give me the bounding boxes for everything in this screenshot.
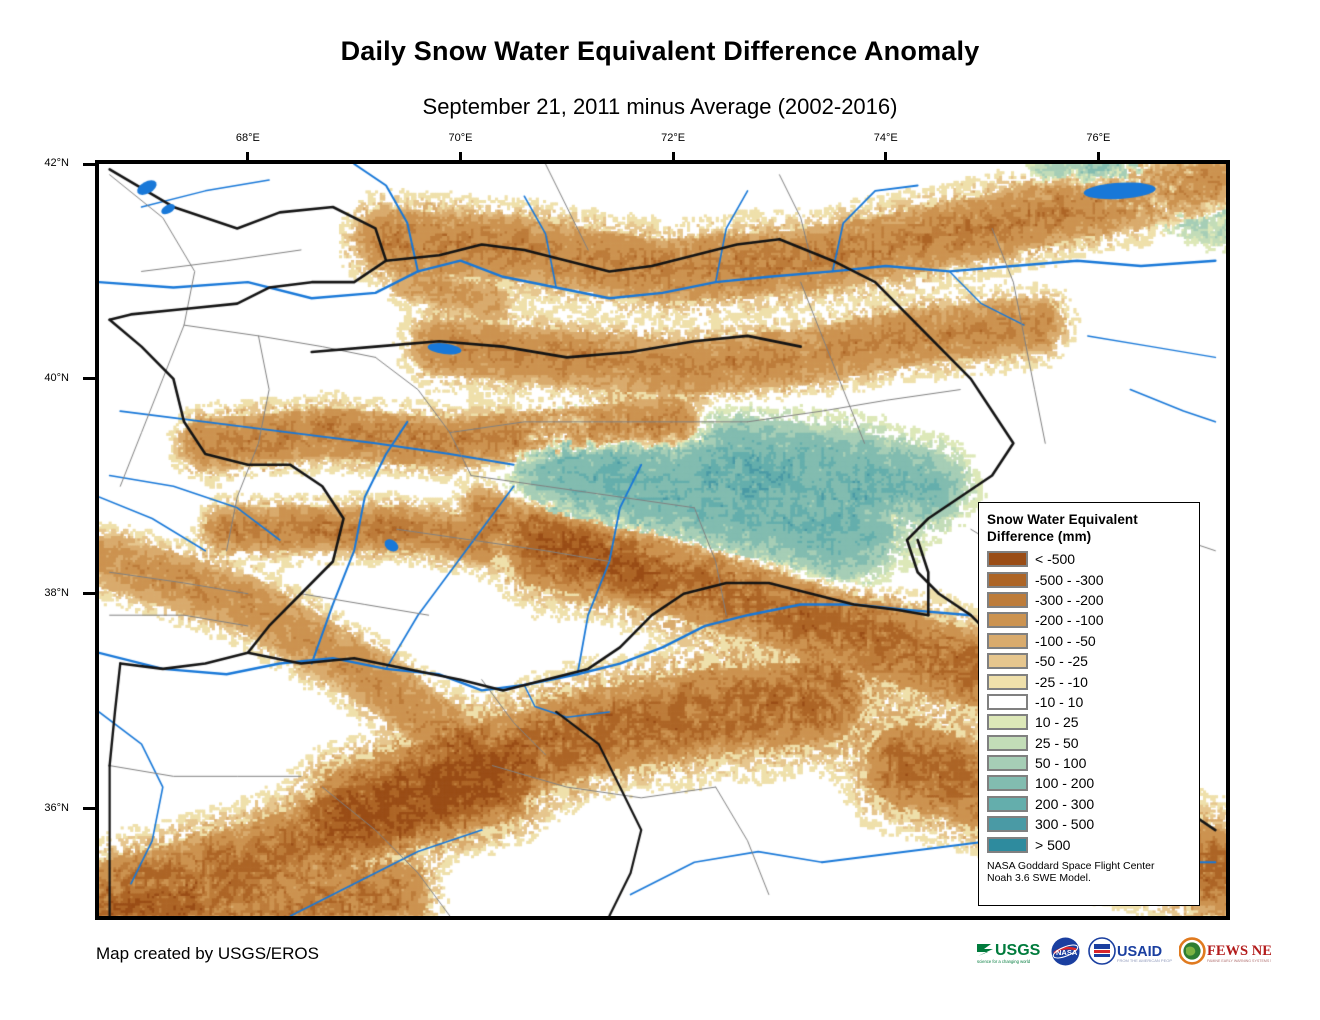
svg-text:FAMINE EARLY WARNING SYSTEMS N: FAMINE EARLY WARNING SYSTEMS NETWORK bbox=[1207, 959, 1271, 963]
legend-entry: -10 - 10 bbox=[987, 692, 1193, 712]
legend-entry: 25 - 50 bbox=[987, 733, 1193, 753]
legend-note-line2: Noah 3.6 SWE Model. bbox=[987, 872, 1193, 885]
legend-entry: 50 - 100 bbox=[987, 753, 1193, 773]
legend-swatch bbox=[987, 612, 1028, 628]
lon-tick-label: 74°E bbox=[856, 133, 916, 144]
lat-tick-mark bbox=[83, 592, 95, 595]
legend-entry-label: 25 - 50 bbox=[1035, 735, 1079, 751]
legend-entry-label: -50 - -25 bbox=[1035, 653, 1088, 669]
legend-entry-label: 50 - 100 bbox=[1035, 755, 1086, 771]
lat-tick-label: 40°N bbox=[23, 372, 69, 384]
legend-entry-label: -300 - -200 bbox=[1035, 592, 1103, 608]
map-credit: Map created by USGS/EROS bbox=[96, 944, 319, 964]
legend-entry: -200 - -100 bbox=[987, 610, 1193, 630]
legend-title-line1: Snow Water Equivalent bbox=[987, 511, 1193, 528]
lat-tick-label: 38°N bbox=[23, 587, 69, 599]
legend-entry: > 500 bbox=[987, 834, 1193, 854]
legend-entry-label: < -500 bbox=[1035, 551, 1075, 567]
legend-note-line1: NASA Goddard Space Flight Center bbox=[987, 860, 1193, 873]
legend-attribution: NASA Goddard Space Flight Center Noah 3.… bbox=[987, 860, 1193, 885]
usaid-logo: USAID FROM THE AMERICAN PEOPLE bbox=[1088, 935, 1172, 967]
legend-swatch bbox=[987, 796, 1028, 812]
legend-swatch bbox=[987, 714, 1028, 730]
legend-swatch bbox=[987, 694, 1028, 710]
svg-text:FEWS NET: FEWS NET bbox=[1207, 943, 1271, 959]
legend-swatch bbox=[987, 816, 1028, 832]
legend-title-line2: Difference (mm) bbox=[987, 528, 1193, 545]
legend-entry: -50 - -25 bbox=[987, 651, 1193, 671]
lat-tick-label: 42°N bbox=[23, 157, 69, 169]
legend-swatch bbox=[987, 775, 1028, 791]
fewsnet-logo: FEWS NET FAMINE EARLY WARNING SYSTEMS NE… bbox=[1179, 935, 1271, 967]
svg-text:FROM THE AMERICAN PEOPLE: FROM THE AMERICAN PEOPLE bbox=[1117, 958, 1172, 963]
legend-swatch bbox=[987, 735, 1028, 751]
legend-swatch bbox=[987, 653, 1028, 669]
legend-swatch bbox=[987, 572, 1028, 588]
page-title: Daily Snow Water Equivalent Difference A… bbox=[0, 36, 1320, 67]
lat-tick-mark bbox=[83, 377, 95, 380]
lat-tick-mark bbox=[83, 807, 95, 810]
lon-tick-label: 70°E bbox=[430, 133, 490, 144]
legend-entry: -300 - -200 bbox=[987, 590, 1193, 610]
svg-text:science for a changing world: science for a changing world bbox=[977, 959, 1031, 964]
svg-text:NASA: NASA bbox=[1056, 948, 1078, 957]
legend-entry-label: 10 - 25 bbox=[1035, 714, 1079, 730]
legend-swatch bbox=[987, 592, 1028, 608]
nasa-logo: NASA bbox=[1050, 935, 1081, 967]
legend-entry-label: 300 - 500 bbox=[1035, 816, 1094, 832]
legend-entry-label: -100 - -50 bbox=[1035, 633, 1096, 649]
lon-tick-label: 72°E bbox=[643, 133, 703, 144]
legend-entry-label: 100 - 200 bbox=[1035, 775, 1094, 791]
legend-entry-label: -200 - -100 bbox=[1035, 612, 1103, 628]
usgs-logo: USGS science for a changing world bbox=[975, 935, 1043, 967]
agency-logo-bar: USGS science for a changing world NASA U… bbox=[975, 934, 1227, 968]
legend-entry: -100 - -50 bbox=[987, 631, 1193, 651]
lat-tick-label: 36°N bbox=[23, 802, 69, 814]
legend-entry-list: < -500-500 - -300-300 - -200-200 - -100-… bbox=[987, 549, 1193, 855]
legend-swatch bbox=[987, 633, 1028, 649]
legend-swatch bbox=[987, 755, 1028, 771]
legend-entry-label: 200 - 300 bbox=[1035, 796, 1094, 812]
legend-entry-label: -10 - 10 bbox=[1035, 694, 1083, 710]
legend-entry-label: -500 - -300 bbox=[1035, 572, 1103, 588]
legend-entry: -500 - -300 bbox=[987, 569, 1193, 589]
lon-tick-label: 68°E bbox=[218, 133, 278, 144]
legend-entry: 200 - 300 bbox=[987, 794, 1193, 814]
legend-title: Snow Water Equivalent Difference (mm) bbox=[987, 511, 1193, 545]
page-subtitle: September 21, 2011 minus Average (2002-2… bbox=[0, 94, 1320, 120]
legend-entry: < -500 bbox=[987, 549, 1193, 569]
lon-tick-label: 76°E bbox=[1068, 133, 1128, 144]
legend-entry: 100 - 200 bbox=[987, 773, 1193, 793]
lat-tick-mark bbox=[83, 163, 95, 166]
legend-swatch bbox=[987, 837, 1028, 853]
legend-entry: 300 - 500 bbox=[987, 814, 1193, 834]
legend-panel: Snow Water Equivalent Difference (mm) < … bbox=[978, 502, 1200, 906]
svg-text:USGS: USGS bbox=[995, 942, 1041, 959]
legend-entry: -25 - -10 bbox=[987, 671, 1193, 691]
legend-entry-label: > 500 bbox=[1035, 837, 1070, 853]
legend-swatch bbox=[987, 674, 1028, 690]
legend-entry: 10 - 25 bbox=[987, 712, 1193, 732]
legend-entry-label: -25 - -10 bbox=[1035, 674, 1088, 690]
legend-swatch bbox=[987, 551, 1028, 567]
